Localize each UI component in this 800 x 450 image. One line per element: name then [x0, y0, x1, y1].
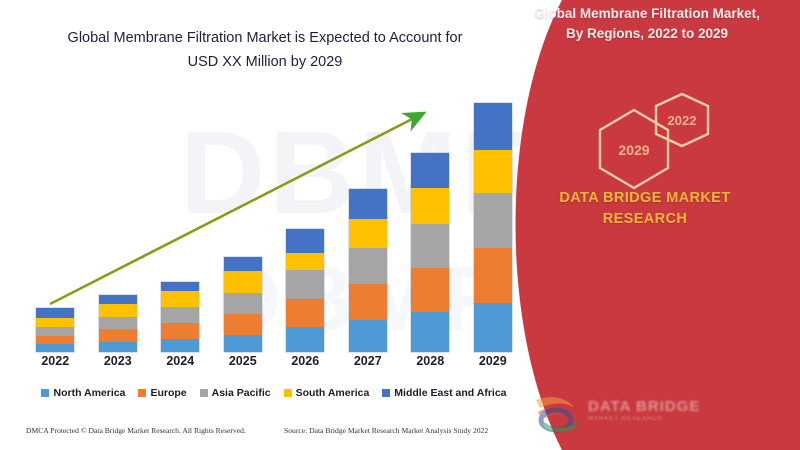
hexagon-2022-shape: [656, 94, 708, 146]
bar-segment: [474, 248, 512, 303]
panel-title-line1: Global Membrane Filtration Market,: [534, 6, 760, 21]
legend-swatch-icon: [200, 389, 208, 397]
bar-segment: [99, 295, 137, 304]
bar-2027: [349, 189, 387, 352]
bar-segment: [36, 344, 74, 352]
bar-segment: [349, 189, 387, 219]
bar-2028: [411, 153, 449, 352]
hexagon-2029-label: 2029: [618, 142, 649, 158]
legend-item-europe[interactable]: Europe: [138, 387, 186, 399]
bar-segment: [161, 282, 199, 291]
bar-segment: [36, 327, 74, 336]
x-tick-2027: 2027: [341, 354, 395, 368]
bar-segment: [36, 336, 74, 345]
x-tick-2028: 2028: [403, 354, 457, 368]
legend-swatch-icon: [41, 389, 49, 397]
bar-group: [24, 96, 524, 352]
bar-segment: [474, 303, 512, 352]
bar-segment: [349, 284, 387, 320]
dbmr-logo-text: DATA BRIDGE: [588, 398, 700, 415]
bar-segment: [349, 219, 387, 247]
legend-label: Europe: [150, 387, 186, 399]
hexagon-badges: 2022 2029: [576, 88, 766, 198]
bar-segment: [474, 150, 512, 193]
bar-segment: [224, 293, 262, 314]
bar-segment: [36, 308, 74, 317]
chart-title-line1: Global Membrane Filtration Market is Exp…: [68, 30, 463, 46]
bar-segment: [224, 314, 262, 335]
legend-item-south-america[interactable]: South America: [284, 387, 370, 399]
chart-legend: North AmericaEuropeAsia PacificSouth Ame…: [24, 384, 524, 402]
bar-segment: [411, 188, 449, 224]
legend-item-north-america[interactable]: North America: [41, 387, 125, 399]
bar-segment: [224, 257, 262, 271]
legend-swatch-icon: [138, 389, 146, 397]
bar-2024: [161, 282, 199, 352]
bar-segment: [161, 307, 199, 322]
x-tick-2025: 2025: [216, 354, 270, 368]
stacked-bar-chart: [24, 96, 524, 352]
legend-item-asia-pacific[interactable]: Asia Pacific: [200, 387, 271, 399]
x-axis: 20222023202420252026202720282029: [24, 354, 524, 376]
bar-segment: [286, 327, 324, 352]
bar-segment: [349, 320, 387, 352]
bar-2023: [99, 295, 137, 352]
x-tick-2029: 2029: [466, 354, 520, 368]
page-title: Global Membrane Filtration Market is Exp…: [30, 26, 500, 74]
bar-2022: [36, 308, 74, 352]
hexagon-2029-shape: [600, 110, 668, 188]
bar-segment: [99, 304, 137, 317]
bar-segment: [286, 270, 324, 298]
legend-label: South America: [296, 387, 370, 399]
source-text: Source: Data Bridge Market Research Mark…: [284, 426, 488, 435]
bar-segment: [224, 335, 262, 352]
bar-2026: [286, 229, 324, 352]
bar-segment: [161, 291, 199, 307]
legend-item-middle-east-and-africa[interactable]: Middle East and Africa: [382, 387, 506, 399]
bar-2025: [224, 257, 262, 352]
x-tick-2022: 2022: [28, 354, 82, 368]
bar-segment: [224, 271, 262, 293]
chart-title-line2: USD XX Million by 2029: [30, 50, 500, 74]
bar-segment: [411, 268, 449, 313]
x-tick-2023: 2023: [91, 354, 145, 368]
copyright-text: DMCA Protected © Data Bridge Market Rese…: [26, 426, 246, 435]
bar-segment: [161, 323, 199, 339]
bar-segment: [99, 342, 137, 352]
bar-segment: [36, 318, 74, 327]
dbmr-logo: DATA BRIDGE MARKET RESEARCH: [530, 392, 770, 438]
brand-line1: DATA BRIDGE MARKET: [559, 190, 730, 206]
bar-segment: [474, 193, 512, 248]
legend-swatch-icon: [284, 389, 292, 397]
bar-segment: [474, 103, 512, 150]
bar-segment: [99, 317, 137, 329]
dbmr-logo-mark: [530, 392, 584, 436]
footer: DMCA Protected © Data Bridge Market Rese…: [26, 426, 531, 440]
legend-label: North America: [53, 387, 125, 399]
infographic-canvas: DBMR DBMR Global Membrane Filtration Mar…: [0, 0, 800, 450]
legend-swatch-icon: [382, 389, 390, 397]
dbmr-logo-subtext: MARKET RESEARCH: [588, 416, 663, 422]
legend-label: Asia Pacific: [212, 387, 271, 399]
bar-segment: [411, 312, 449, 352]
x-tick-2024: 2024: [153, 354, 207, 368]
bar-segment: [411, 224, 449, 268]
panel-title-line2: By Regions, 2022 to 2029: [502, 24, 792, 44]
bar-segment: [411, 153, 449, 188]
bar-segment: [161, 339, 199, 352]
bar-segment: [286, 253, 324, 270]
bar-segment: [349, 248, 387, 284]
hexagon-2022-label: 2022: [668, 113, 697, 128]
x-tick-2026: 2026: [278, 354, 332, 368]
legend-label: Middle East and Africa: [394, 387, 506, 399]
bar-segment: [99, 329, 137, 341]
bar-segment: [286, 229, 324, 254]
panel-title: Global Membrane Filtration Market, By Re…: [502, 4, 792, 44]
bar-segment: [286, 299, 324, 327]
bar-2029: [474, 103, 512, 352]
